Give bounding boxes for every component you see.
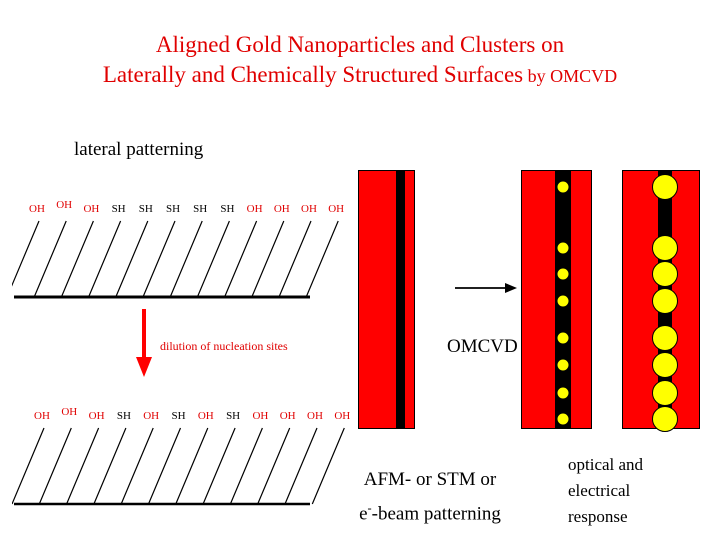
gold-particle — [557, 332, 570, 345]
slide-title: Aligned Gold Nanoparticles and Clusters … — [0, 30, 720, 91]
panel-1-stripe — [396, 171, 405, 428]
gold-particle — [652, 380, 678, 406]
panel-nanoparticles — [521, 170, 592, 429]
terminal-group-label: OH — [89, 410, 105, 422]
sam-chain — [67, 428, 99, 504]
sam-chain — [89, 221, 121, 297]
sam-chain — [12, 428, 44, 504]
terminal-group-label: SH — [171, 410, 185, 422]
terminal-group-label: OH — [334, 410, 350, 422]
terminal-group-label: OH — [56, 199, 72, 211]
sam-bottom-chains — [12, 424, 352, 514]
terminal-group-label: SH — [139, 203, 153, 215]
terminal-group-label: OH — [274, 203, 290, 215]
sam-chain — [203, 428, 235, 504]
sam-chain — [34, 221, 66, 297]
patterning-methods-caption: AFM- or STM or e--beam patterning — [330, 466, 530, 528]
terminal-group-label: SH — [220, 203, 234, 215]
sam-chain — [306, 221, 338, 297]
panel-patterned-substrate — [358, 170, 415, 429]
terminal-group-label: SH — [226, 410, 240, 422]
title-line-2-small: by OMCVD — [523, 66, 617, 86]
sam-chain — [258, 428, 290, 504]
gold-particle — [652, 352, 678, 378]
title-line-1: Aligned Gold Nanoparticles and Clusters … — [0, 30, 720, 60]
gold-particle — [557, 181, 570, 194]
terminal-group-label: OH — [280, 410, 296, 422]
terminal-group-label: OH — [198, 410, 214, 422]
terminal-group-label: SH — [117, 410, 131, 422]
gold-particle — [652, 261, 678, 287]
sam-chain — [279, 221, 311, 297]
caption-e: e — [359, 503, 367, 524]
response-line-3: response — [568, 504, 718, 530]
sam-chain — [116, 221, 148, 297]
lateral-patterning-label: lateral patterning — [74, 139, 203, 161]
sam-chain — [12, 221, 39, 297]
terminal-group-label: OH — [247, 203, 263, 215]
terminal-group-label: OH — [143, 410, 159, 422]
omcvd-label: OMCVD — [447, 336, 518, 358]
sam-chain — [149, 428, 181, 504]
sam-chain — [176, 428, 208, 504]
gold-particle — [652, 174, 678, 200]
terminal-group-label: OH — [252, 410, 268, 422]
response-line-1: optical and — [568, 452, 718, 478]
caption-beam-text: -beam patterning — [372, 503, 501, 524]
terminal-group-label: SH — [193, 203, 207, 215]
gold-particle — [557, 413, 570, 426]
sam-chain — [121, 428, 153, 504]
sam-diagram-bottom: OHOHOHSHOHSHOHSHOHOHOHOH — [12, 410, 352, 510]
sam-chain — [285, 428, 317, 504]
sam-chain — [94, 428, 126, 504]
dilution-arrow — [133, 309, 157, 384]
gold-particle — [557, 359, 570, 372]
gold-particle — [652, 235, 678, 261]
gold-particle — [652, 325, 678, 351]
gold-particle — [652, 406, 678, 432]
terminal-group-label: SH — [112, 203, 126, 215]
title-line-2: Laterally and Chemically Structured Surf… — [0, 60, 720, 91]
sam-diagram-top: OHOHOHSHSHSHSHSHOHOHOHOH — [12, 203, 342, 303]
caption-line-1: AFM- or STM or — [330, 466, 530, 494]
terminal-group-label: OH — [34, 410, 50, 422]
dilution-label: dilution of nucleation sites — [160, 339, 288, 354]
sam-chain — [197, 221, 229, 297]
gold-particle — [652, 288, 678, 314]
slide-canvas: Aligned Gold Nanoparticles and Clusters … — [0, 0, 720, 540]
omcvd-arrow — [455, 280, 517, 301]
sam-top-chains — [12, 217, 342, 307]
sam-chain — [230, 428, 262, 504]
terminal-group-label: SH — [166, 203, 180, 215]
sam-chain — [61, 221, 93, 297]
sam-chain — [225, 221, 257, 297]
terminal-group-label: OH — [301, 203, 317, 215]
response-caption: optical and electrical response — [568, 452, 718, 530]
sam-chain — [170, 221, 202, 297]
sam-chain — [252, 221, 284, 297]
gold-particle — [557, 268, 570, 281]
title-line-2-main: Laterally and Chemically Structured Surf… — [103, 62, 523, 87]
terminal-group-label: OH — [328, 203, 344, 215]
terminal-group-label: OH — [83, 203, 99, 215]
gold-particle — [557, 295, 570, 308]
sam-chain — [39, 428, 71, 504]
terminal-group-label: OH — [61, 406, 77, 418]
response-line-2: electrical — [568, 478, 718, 504]
caption-line-2: e--beam patterning — [330, 494, 530, 528]
panel-clusters — [622, 170, 700, 429]
gold-particle — [557, 242, 570, 255]
sam-chain — [143, 221, 175, 297]
terminal-group-label: OH — [29, 203, 45, 215]
gold-particle — [557, 387, 570, 400]
terminal-group-label: OH — [307, 410, 323, 422]
